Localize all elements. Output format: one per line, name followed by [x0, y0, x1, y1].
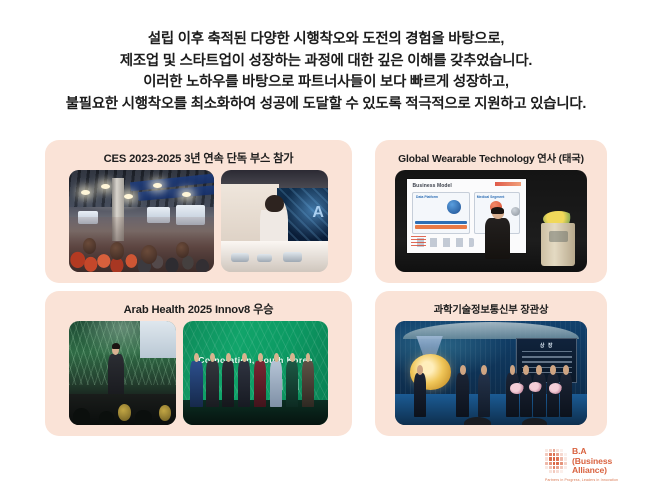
logo-pixel — [556, 470, 559, 473]
foreground-audience-head — [522, 418, 547, 425]
slide-side-note — [411, 236, 425, 248]
award-winner — [190, 361, 202, 408]
stage-bokeh-light — [118, 404, 131, 421]
logo-pixel — [553, 470, 556, 473]
audience-silhouette — [73, 408, 90, 425]
plaque-text-line — [522, 351, 572, 353]
demo-device — [283, 252, 302, 262]
logo-pixel — [549, 457, 552, 460]
screen-letter-a: A — [312, 204, 324, 222]
minister-award-ceremony-photo: 상 장 — [395, 321, 587, 425]
slide-section-left-label: Data Platform — [416, 195, 438, 199]
brand-tagline: Partners in Progress, Leaders in Innovat… — [545, 478, 647, 482]
logo-pixel — [549, 462, 552, 465]
logo-pixel — [545, 457, 548, 460]
logo-pixel — [560, 470, 563, 473]
arab-health-award-photo: Corporation, South Korea — [183, 321, 328, 425]
keynote-speaker — [485, 208, 510, 259]
staff-hair — [265, 195, 284, 213]
card-global-wearable: Global Wearable Technology 연사 (태국) Busin… — [375, 140, 607, 283]
plaque-text-line — [522, 361, 572, 363]
bouquet — [510, 383, 523, 393]
ceremony-guest — [506, 373, 518, 417]
logo-pixel — [556, 462, 559, 465]
visitor-head — [110, 242, 124, 259]
card-global-wearable-photos: Business Model Data Platform Medical Seg… — [375, 170, 607, 272]
speaker-body — [485, 218, 510, 259]
logo-pixel — [564, 457, 567, 460]
bouquet — [529, 382, 541, 391]
plaque-title: 상 장 — [540, 342, 554, 349]
logo-pixel — [560, 462, 563, 465]
card-global-wearable-title: Global Wearable Technology 연사 (태국) — [375, 150, 607, 165]
card-arab-health-photos: Corporation, South Korea — [45, 321, 352, 425]
audience-silhouette — [135, 410, 151, 425]
logo-pixel — [564, 453, 567, 456]
logo-pixel — [549, 449, 552, 452]
logo-pixel — [560, 457, 563, 460]
ceremony-recipient — [478, 373, 490, 417]
stage-bokeh-light — [159, 405, 171, 421]
award-winner — [286, 361, 298, 408]
logo-pixel — [560, 453, 563, 456]
intro-line-1: 설립 이후 축적된 다양한 시행착오와 도전의 경험을 바탕으로, — [0, 29, 652, 51]
logo-pixel — [556, 453, 559, 456]
demo-device — [231, 253, 248, 262]
logo-pixel — [556, 457, 559, 460]
speaker-hair — [491, 207, 504, 214]
logo-pixel — [556, 466, 559, 469]
intro-paragraph: 설립 이후 축적된 다양한 시행착오와 도전의 경험을 바탕으로, 제조업 및 … — [0, 29, 652, 115]
ceremony-attendant — [414, 373, 426, 417]
plaque-text-line — [522, 356, 572, 358]
card-ces: CES 2023-2025 3년 연속 단독 부스 참가 — [45, 140, 352, 283]
brand-logo: B.A (Business Alliance) Partners in Prog… — [545, 447, 645, 485]
card-ces-photos: A — [45, 170, 352, 272]
ceremony-guest — [547, 373, 559, 417]
logo-pixel — [545, 462, 548, 465]
foreground-audience-head — [464, 417, 491, 425]
award-winner — [302, 361, 314, 408]
brand-name: B.A (Business Alliance) — [572, 447, 612, 476]
keynote-stage-photo: Business Model Data Platform Medical Seg… — [395, 170, 587, 272]
logo-pixel — [549, 453, 552, 456]
logo-pixel — [560, 466, 563, 469]
award-winner — [238, 361, 250, 408]
stage-sky-panel — [140, 321, 176, 358]
logo-pixel — [545, 449, 548, 452]
brand-name-line-3: Alliance) — [572, 466, 612, 476]
logo-pixel — [564, 462, 567, 465]
intro-line-2: 제조업 및 스타트업이 성장하는 과정에 대한 깊은 이해를 갖추었습니다. — [0, 51, 652, 73]
award-winner — [206, 361, 218, 408]
logo-pixel — [553, 449, 556, 452]
card-arab-health-title: Arab Health 2025 Innov8 우승 — [45, 301, 352, 317]
logo-pixel — [549, 470, 552, 473]
lectern — [541, 223, 576, 266]
slide-corner-tag — [495, 182, 521, 186]
achievement-card-grid: CES 2023-2025 3년 연속 단독 부스 참가 — [45, 140, 607, 436]
card-ces-title: CES 2023-2025 3년 연속 단독 부스 참가 — [45, 150, 352, 166]
slide-section-right-label: Medical Segment — [477, 195, 505, 199]
ceremony-guest — [533, 373, 545, 417]
logo-pixel — [560, 449, 563, 452]
logo-pixel — [549, 466, 552, 469]
card-minister-award-title: 과학기술정보통신부 장관상 — [375, 301, 607, 316]
ceremony-guest — [560, 373, 572, 417]
award-winner — [270, 361, 282, 408]
slide-title: Business Model — [412, 183, 451, 189]
audience-silhouette — [99, 411, 114, 425]
logo-pixel — [553, 462, 556, 465]
visitor-head — [176, 242, 189, 257]
logo-pixel — [553, 457, 556, 460]
bouquet — [549, 383, 562, 393]
intro-line-4: 불필요한 시행착오를 최소화하여 성공에 도달할 수 있도록 적극적으로 지원하… — [0, 94, 652, 116]
slide-bar-orange — [415, 225, 467, 229]
logo-pixel — [556, 449, 559, 452]
pixel-grid-logo-mark — [545, 449, 567, 473]
speaker-hair — [112, 343, 120, 350]
logo-pixel — [553, 453, 556, 456]
slide-page: 설립 이후 축적된 다양한 시행착오와 도전의 경험을 바탕으로, 제조업 및 … — [0, 0, 652, 488]
card-minister-award-photos: 상 장 — [375, 321, 607, 425]
logo-pixel — [564, 466, 567, 469]
intro-line-3: 이러한 노하우를 바탕으로 파트너사들이 보다 빠르게 성장하고, — [0, 72, 652, 94]
card-minister-award: 과학기술정보통신부 장관상 상 장 — [375, 291, 607, 436]
lectern-logo — [549, 231, 568, 242]
slide-bar-blue — [415, 221, 467, 224]
logo-pixel — [545, 466, 548, 469]
demo-device — [257, 254, 272, 262]
card-arab-health: Arab Health 2025 Innov8 우승 — [45, 291, 352, 436]
ces-booth-demo-photo: A — [221, 170, 328, 272]
ces-expo-hall-crowd-photo — [69, 170, 214, 272]
award-winner — [222, 361, 234, 408]
logo-pixel — [553, 466, 556, 469]
award-winner — [254, 361, 266, 408]
ceremony-guest — [520, 373, 532, 417]
ceremony-presenter — [456, 373, 468, 417]
logo-pixel — [545, 453, 548, 456]
arab-health-speaker-photo — [69, 321, 176, 425]
